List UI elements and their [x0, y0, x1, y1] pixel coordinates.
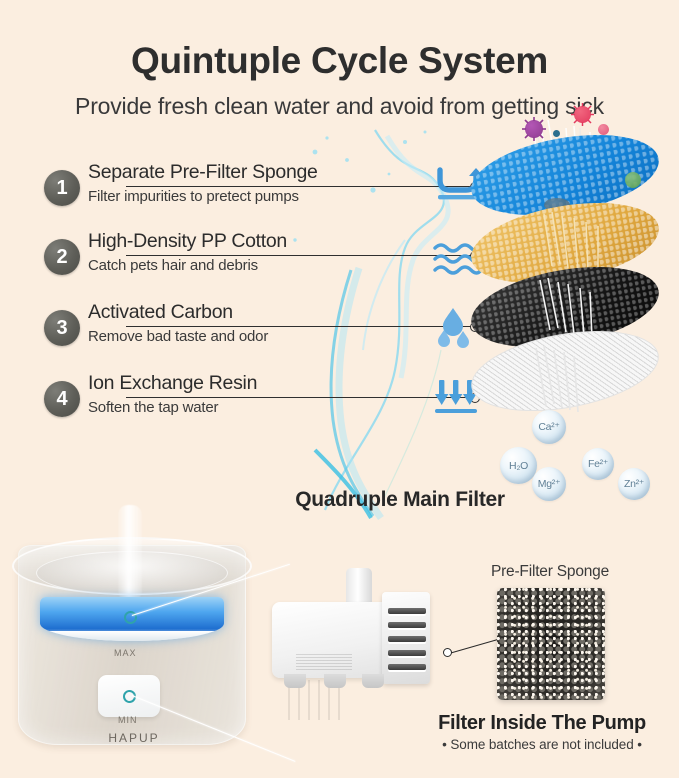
- quadruple-filter-stack: H₂O Ca²⁺ Mg²⁺ Fe²⁺ Zn²⁺: [470, 120, 679, 450]
- feature-detail-2: Catch pets hair and debris: [88, 253, 434, 276]
- feature-number-badge-4: 4: [44, 381, 80, 417]
- feature-number-badge-3: 3: [44, 310, 80, 346]
- feature-number-badge-2: 2: [44, 239, 80, 275]
- max-level-label: MAX: [114, 648, 137, 658]
- feature-row-1[interactable]: 1 Separate Pre-Filter Sponge Filter impu…: [44, 160, 434, 216]
- pump-grille-slot: [388, 650, 426, 656]
- germ-particle-dot: [553, 130, 560, 137]
- min-level-label: MIN: [118, 715, 138, 725]
- pump-grille-slot: [388, 622, 426, 628]
- germ-particle-red: [574, 106, 591, 123]
- pre-filter-sponge-image: [497, 588, 605, 700]
- feature-row-3[interactable]: 3 Activated Carbon Remove bad taste and …: [44, 300, 434, 356]
- molecule-bubble-fe: Fe²⁺: [582, 448, 614, 480]
- page-title: Quintuple Cycle System: [0, 40, 679, 82]
- infographic-canvas: Quintuple Cycle System Provide fresh cle…: [0, 0, 679, 778]
- feature-heading-4: Ion Exchange Resin: [88, 371, 434, 395]
- feature-connector-line-3: [126, 326, 471, 327]
- germ-particle-purple: [525, 120, 543, 138]
- pump-grille-slot: [388, 608, 426, 614]
- pump-product-image: [262, 556, 442, 716]
- molecule-bubble-ca: Ca²⁺: [532, 410, 566, 444]
- feature-detail-1: Filter impurities to pretect pumps: [88, 184, 434, 207]
- germ-particle-pink: [598, 124, 609, 135]
- molecule-bubble-h2o: H₂O: [500, 447, 537, 484]
- feature-connector-line-1: [126, 186, 471, 187]
- pump-grille-slot: [388, 664, 426, 670]
- feature-row-4[interactable]: 4 Ion Exchange Resin Soften the tap wate…: [44, 371, 434, 427]
- filter-stack-caption: Quadruple Main Filter: [255, 488, 545, 512]
- sponge-caption: Pre-Filter Sponge: [432, 563, 668, 581]
- pump-spec-label: [296, 654, 352, 670]
- water-stream: [118, 505, 142, 601]
- pump-body: [272, 602, 392, 678]
- water-fountain-product-image: MAX MIN HAPUP: [8, 505, 260, 773]
- feature-number-badge-1: 1: [44, 170, 80, 206]
- germ-particle-green: [625, 172, 641, 188]
- bottom-section-note: • Some batches are not included •: [412, 737, 672, 752]
- feature-row-2[interactable]: 2 High-Density PP Cotton Catch pets hair…: [44, 229, 434, 285]
- bottom-section-title: Filter Inside The Pump: [412, 712, 672, 735]
- pump-callout-dot[interactable]: [443, 648, 452, 657]
- feature-connector-line-2: [126, 255, 471, 256]
- feature-connector-line-4: [126, 397, 471, 398]
- feature-detail-3: Remove bad taste and odor: [88, 324, 434, 347]
- molecule-bubble-zn: Zn²⁺: [618, 468, 650, 500]
- feature-heading-2: High-Density PP Cotton: [88, 229, 434, 253]
- pump-grille-slot: [388, 636, 426, 642]
- feature-detail-4: Soften the tap water: [88, 395, 434, 418]
- feature-heading-1: Separate Pre-Filter Sponge: [88, 160, 434, 184]
- feature-heading-3: Activated Carbon: [88, 300, 434, 324]
